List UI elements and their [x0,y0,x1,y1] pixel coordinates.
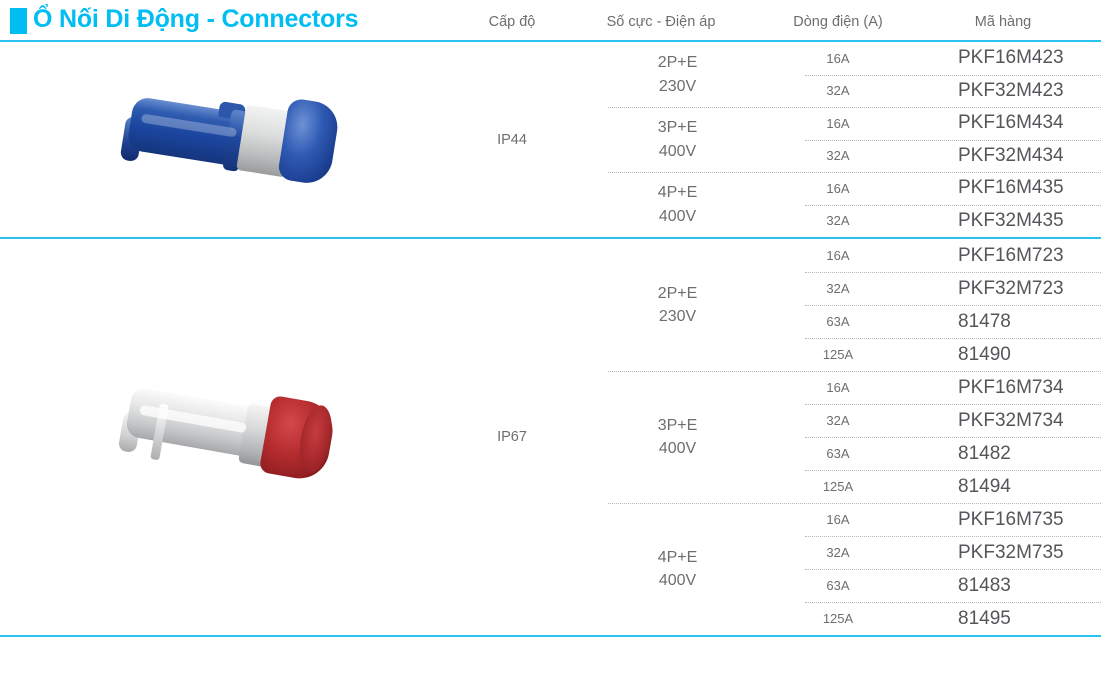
current-value: 16A [770,248,902,263]
voltage-value: 400V [659,140,696,163]
product-code[interactable]: 81490 [902,344,1101,366]
table-row[interactable]: 32APKF32M423 [770,75,1101,108]
table-row[interactable]: 125A81490 [770,338,1101,371]
current-value: 16A [770,512,902,527]
table-row[interactable]: 32APKF32M734 [770,404,1101,437]
product-code[interactable]: PKF32M423 [902,80,1101,102]
poles-value: 4P+E [658,181,698,204]
poles-voltage-label: 3P+E400V [585,371,770,503]
voltage-value: 400V [659,569,696,592]
product-image-ip44 [115,85,347,195]
voltage-group: 3P+E400V16APKF16M43432APKF32M434 [562,107,1101,172]
voltage-value: 230V [659,305,696,328]
table-row[interactable]: 32APKF32M735 [770,536,1101,569]
current-value: 125A [770,479,902,494]
poles-voltage-label: 2P+E230V [585,42,770,107]
table-row[interactable]: 63A81478 [770,305,1101,338]
column-header-current: Dòng điện (A) [772,14,904,30]
current-value: 32A [770,148,902,163]
current-value: 32A [770,213,902,228]
current-value: 125A [770,611,902,626]
current-value: 63A [770,314,902,329]
product-code[interactable]: PKF16M735 [902,509,1101,531]
table-row[interactable]: 32APKF32M434 [770,140,1101,173]
product-code[interactable]: PKF16M435 [902,177,1101,199]
product-section-ip67: IP672P+E230V16APKF16M72332APKF32M72363A8… [0,239,1101,635]
product-code[interactable]: 81482 [902,443,1101,465]
poles-value: 4P+E [658,546,698,569]
product-code[interactable]: PKF32M735 [902,542,1101,564]
page-title: Ổ Nối Di Động - Connectors [33,5,358,34]
table-row[interactable]: 16APKF16M434 [770,107,1101,140]
table-row[interactable]: 125A81495 [770,602,1101,635]
table-row[interactable]: 16APKF16M735 [770,503,1101,536]
table-row[interactable]: 32APKF32M723 [770,272,1101,305]
title-accent-marker [10,8,27,34]
voltage-value: 230V [659,75,696,98]
poles-value: 3P+E [658,116,698,139]
product-code[interactable]: PKF16M723 [902,245,1101,267]
product-photo-cell [0,42,462,237]
voltage-group: 2P+E230V16APKF16M72332APKF32M72363A81478… [562,239,1101,371]
current-value: 16A [770,380,902,395]
voltage-group: 3P+E400V16APKF16M73432APKF32M73463A81482… [562,371,1101,503]
product-table: IP442P+E230V16APKF16M42332APKF32M4233P+E… [0,42,1101,637]
product-code[interactable]: 81478 [902,311,1101,333]
voltage-group: 4P+E400V16APKF16M73532APKF32M73563A81483… [562,503,1101,635]
current-value: 16A [770,181,902,196]
current-value: 125A [770,347,902,362]
poles-voltage-label: 4P+E400V [585,503,770,635]
product-code[interactable]: PKF32M435 [902,210,1101,232]
product-image-ip67 [115,378,347,496]
voltage-group: 4P+E400V16APKF16M43532APKF32M435 [562,172,1101,237]
current-value: 63A [770,578,902,593]
table-row[interactable]: 16APKF16M723 [770,239,1101,272]
column-header-grade: Cấp độ [462,14,562,30]
grade-label: IP44 [462,42,562,237]
product-code[interactable]: PKF32M434 [902,145,1101,167]
voltage-value: 400V [659,205,696,228]
current-value: 16A [770,116,902,131]
product-code[interactable]: PKF16M434 [902,112,1101,134]
column-header-code: Mã hàng [928,14,1078,30]
current-value: 32A [770,281,902,296]
table-row[interactable]: 125A81494 [770,470,1101,503]
current-value: 32A [770,545,902,560]
current-value: 32A [770,83,902,98]
column-header-poles-voltage: Số cực - Điện áp [585,14,737,30]
product-code[interactable]: PKF32M723 [902,278,1101,300]
table-row[interactable]: 16APKF16M435 [770,172,1101,205]
product-section-ip44: IP442P+E230V16APKF16M42332APKF32M4233P+E… [0,42,1101,237]
product-code[interactable]: 81483 [902,575,1101,597]
poles-value: 2P+E [658,51,698,74]
product-code[interactable]: 81495 [902,608,1101,630]
poles-voltage-label: 2P+E230V [585,239,770,371]
table-row[interactable]: 63A81483 [770,569,1101,602]
table-row[interactable]: 16APKF16M423 [770,42,1101,75]
product-code[interactable]: PKF32M734 [902,410,1101,432]
voltage-group: 2P+E230V16APKF16M42332APKF32M423 [562,42,1101,107]
table-bottom-divider [0,635,1101,637]
product-code[interactable]: PKF16M734 [902,377,1101,399]
poles-voltage-label: 3P+E400V [585,107,770,172]
current-value: 63A [770,446,902,461]
page-header: Ổ Nối Di Động - Connectors Cấp độ Số cực… [0,0,1101,40]
current-value: 16A [770,51,902,66]
poles-value: 3P+E [658,414,698,437]
table-row[interactable]: 16APKF16M734 [770,371,1101,404]
product-code[interactable]: 81494 [902,476,1101,498]
table-row[interactable]: 63A81482 [770,437,1101,470]
poles-voltage-label: 4P+E400V [585,172,770,237]
grade-label: IP67 [462,239,562,635]
current-value: 32A [770,413,902,428]
poles-value: 2P+E [658,282,698,305]
voltage-value: 400V [659,437,696,460]
product-photo-cell [0,239,462,635]
table-row[interactable]: 32APKF32M435 [770,205,1101,238]
product-code[interactable]: PKF16M423 [902,47,1101,69]
